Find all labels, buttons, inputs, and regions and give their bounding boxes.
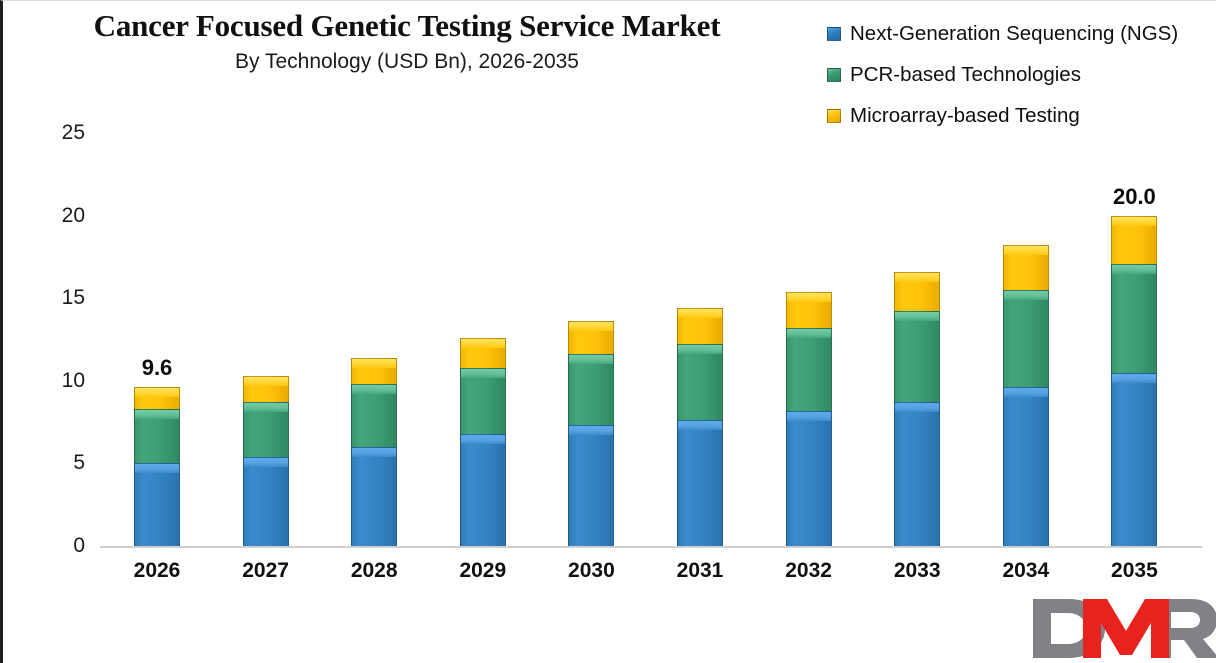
bar-segment-ngs[interactable] [1003,387,1049,546]
y-axis-tick-label: 0 [25,534,85,558]
bar-group[interactable] [243,376,289,546]
bar-segment-ngs[interactable] [894,402,940,546]
logo-letter-m [1083,599,1169,658]
x-axis-tick-label: 2027 [211,559,321,583]
bar-segment-ngs[interactable] [568,425,614,546]
bar-segment-ngs[interactable] [134,463,180,546]
bar-segment-pcr[interactable] [243,402,289,457]
bar-segment-microarray[interactable] [786,292,832,328]
bar-group[interactable] [786,292,832,546]
bar-segment-microarray[interactable] [351,358,397,384]
x-axis-tick-label: 2035 [1079,559,1189,583]
bar-segment-ngs[interactable] [677,420,723,546]
bar-segment-pcr[interactable] [351,384,397,447]
bar-group[interactable] [1003,245,1049,546]
bar-segment-pcr[interactable] [1111,264,1157,373]
bar-segment-ngs[interactable] [243,457,289,546]
bar-segment-pcr[interactable] [677,344,723,420]
x-axis-tick-label: 2033 [862,559,972,583]
y-axis-tick-label: 15 [25,286,85,310]
bar-group[interactable] [460,338,506,546]
x-axis-tick-label: 2030 [536,559,646,583]
bar-segment-pcr[interactable] [568,354,614,425]
bar-group[interactable] [351,358,397,546]
bar-segment-ngs[interactable] [351,447,397,546]
bar-total-label: 20.0 [1113,184,1156,210]
bar-segment-microarray[interactable] [243,376,289,402]
bar-group[interactable] [894,272,940,546]
dmr-logo [1025,593,1216,663]
bar-segment-microarray[interactable] [134,387,180,408]
x-axis-line [100,546,1202,548]
bar-total-label: 9.6 [142,355,173,381]
bar-segment-pcr[interactable] [1003,290,1049,387]
bar-segment-microarray[interactable] [1003,245,1049,290]
bar-segment-ngs[interactable] [786,411,832,546]
y-axis-tick-label: 25 [25,121,85,145]
bar-segment-pcr[interactable] [786,328,832,411]
bar-group[interactable] [568,321,614,546]
bar-segment-ngs[interactable] [460,434,506,546]
bar-segment-pcr[interactable] [894,311,940,402]
bar-group[interactable]: 20.0 [1111,216,1157,546]
bar-segment-pcr[interactable] [134,409,180,464]
bar-segment-ngs[interactable] [1111,373,1157,546]
x-axis-tick-label: 2032 [754,559,864,583]
bar-segment-pcr[interactable] [460,368,506,434]
y-axis-tick-label: 5 [25,451,85,475]
plot-area: 0510152025 9.620.0 202620272028202920302… [3,1,1216,663]
y-axis-tick-label: 10 [25,369,85,393]
bar-segment-microarray[interactable] [568,321,614,354]
x-axis-tick-label: 2026 [102,559,212,583]
bar-segment-microarray[interactable] [677,308,723,344]
x-axis-tick-label: 2029 [428,559,538,583]
chart-page: Cancer Focused Genetic Testing Service M… [0,0,1216,663]
bar-group[interactable]: 9.6 [134,387,180,546]
bar-segment-microarray[interactable] [1111,216,1157,264]
bar-group[interactable] [677,308,723,546]
y-axis-tick-label: 20 [25,204,85,228]
bar-segment-microarray[interactable] [894,272,940,312]
x-axis-tick-label: 2034 [971,559,1081,583]
x-axis-tick-label: 2031 [645,559,755,583]
x-axis-tick-label: 2028 [319,559,429,583]
bar-segment-microarray[interactable] [460,338,506,368]
